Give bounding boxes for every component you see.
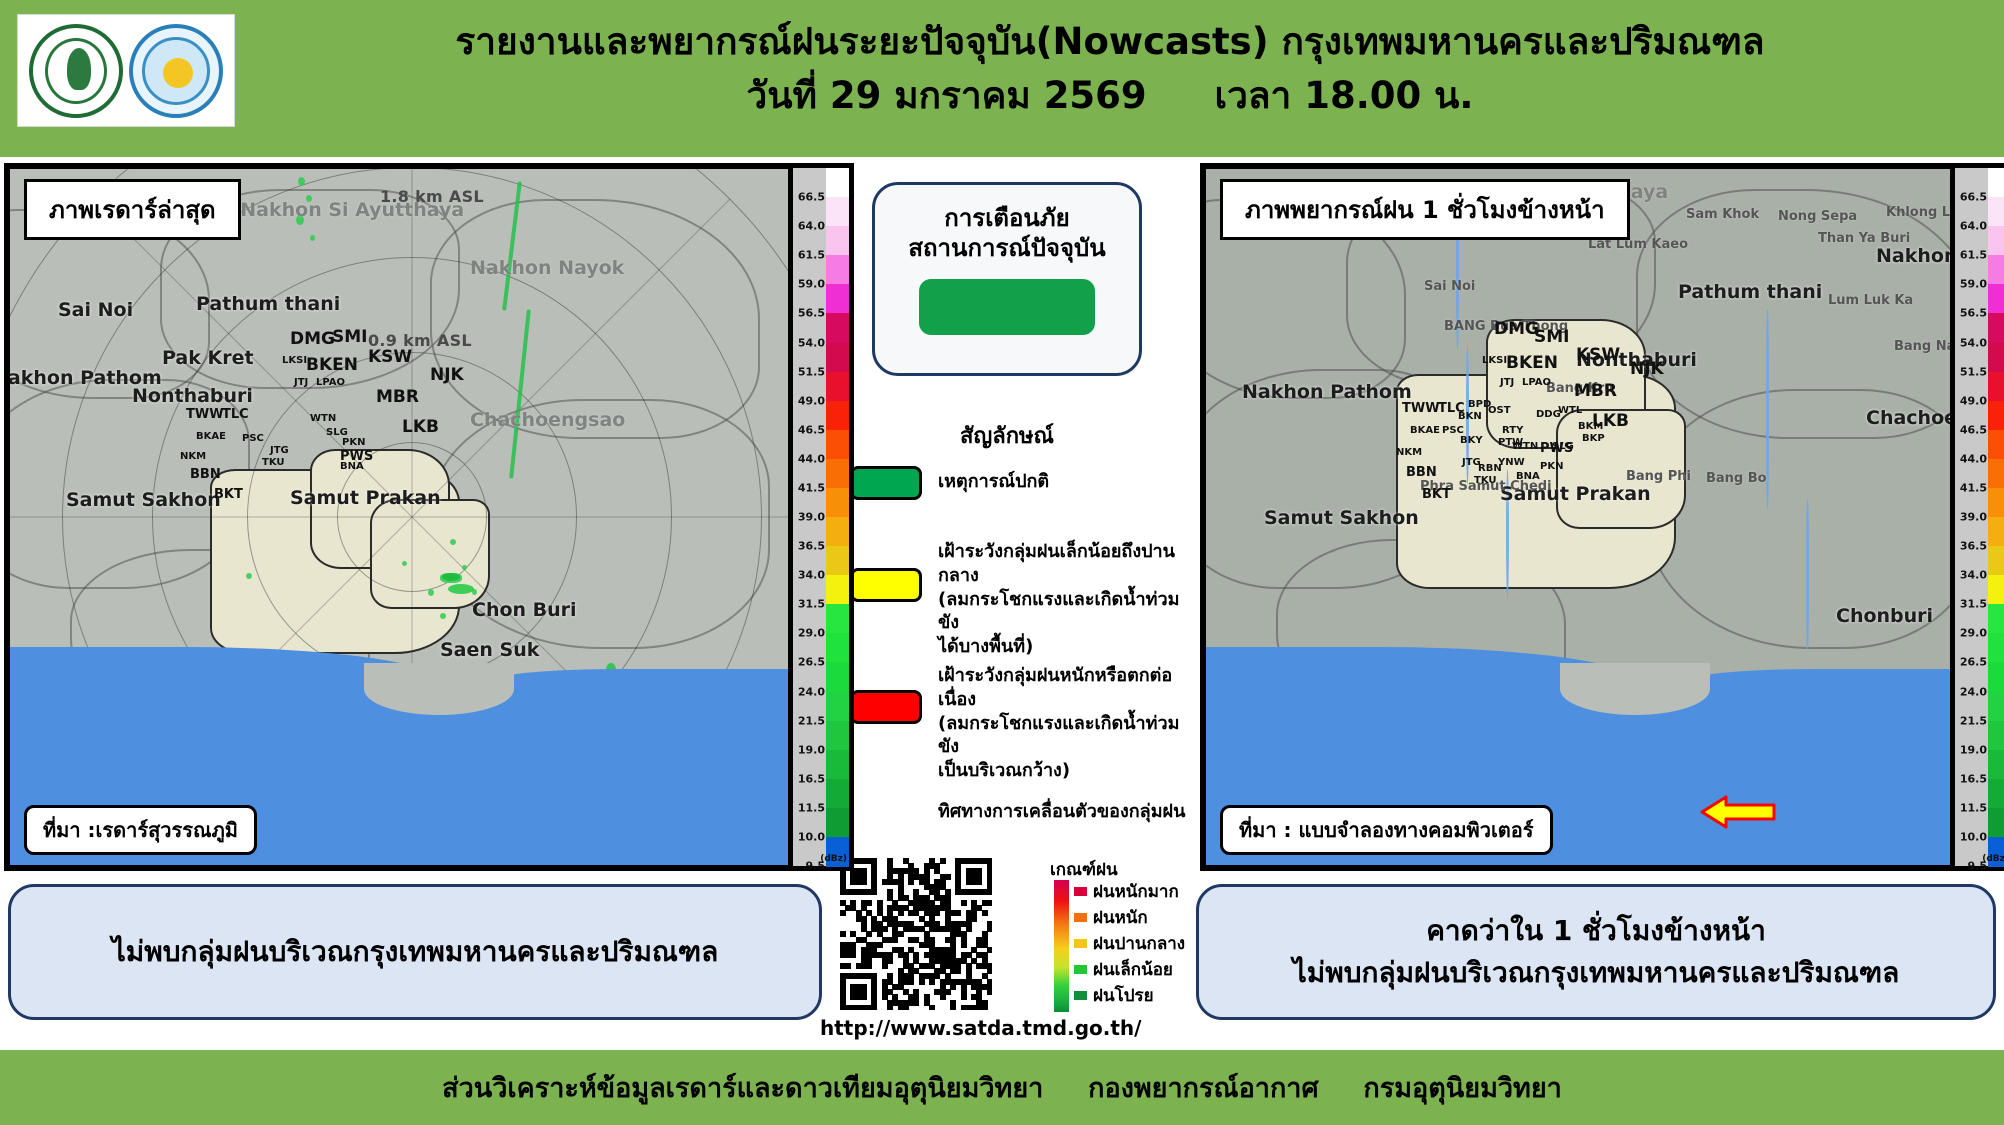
title-datetime: วันที่ 29 มกราคม 2569 เวลา 18.00 น. bbox=[250, 72, 1970, 120]
satda-tmd-qr-code[interactable] bbox=[840, 858, 992, 1010]
district-code: LPAO bbox=[1522, 377, 1551, 388]
place-label: Nakhon Pathom bbox=[1242, 381, 1412, 403]
dbz-swatch bbox=[1988, 372, 2004, 402]
dbz-swatch bbox=[826, 313, 849, 343]
dbz-swatch bbox=[1988, 313, 2004, 343]
dbz-tick-label: 16.5 bbox=[1960, 772, 1987, 785]
place-label: Pathum thani bbox=[1678, 281, 1822, 303]
radar-echo bbox=[310, 235, 315, 241]
rain-scale-item: ฝนโปรย bbox=[1074, 982, 1154, 1009]
district-code: PKN bbox=[1540, 461, 1563, 472]
district-code: BKT bbox=[214, 487, 243, 502]
legend-caution-line-2: (ลมกระโชกแรงและเกิดน้ำท่วมขัง bbox=[938, 588, 1190, 636]
place-label: Pathum thani bbox=[196, 293, 340, 315]
dbz-tick-label: 24.0 bbox=[798, 685, 825, 698]
dbz-tick-label: 64.0 bbox=[798, 220, 825, 233]
right-map-source: ที่มา : แบบจำลองทางคอมพิวเตอร์ bbox=[1220, 805, 1553, 855]
dbz-swatch bbox=[1988, 575, 2004, 605]
dbz-tick-label: 44.0 bbox=[798, 452, 825, 465]
dbz-tick-label: 51.5 bbox=[798, 365, 825, 378]
dbz-tick-label: 34.0 bbox=[798, 569, 825, 582]
dbz-tick-label: 36.5 bbox=[1960, 540, 1987, 553]
dbz-swatch bbox=[826, 779, 849, 809]
legend-swatch-yellow bbox=[850, 568, 922, 602]
dbz-swatch bbox=[826, 197, 849, 227]
district-code: SMI bbox=[332, 327, 368, 347]
radar-echo bbox=[428, 589, 434, 596]
radar-echo bbox=[462, 565, 467, 570]
rain-scale-swatch bbox=[1074, 965, 1087, 974]
coastline bbox=[1560, 663, 1710, 715]
legend-item-direction: ทิศทางการเคลื่อนตัวของกลุ่มฝน bbox=[850, 792, 1190, 838]
dbz-tick-label: 64.0 bbox=[1960, 220, 1987, 233]
place-label: Samut Prakan bbox=[290, 487, 441, 509]
dbz-tick-label: 26.5 bbox=[798, 656, 825, 669]
dbz-tick-label: 39.0 bbox=[1960, 511, 1987, 524]
district-code: TWW bbox=[186, 407, 224, 422]
dbz-tick-label: 24.0 bbox=[1960, 685, 1987, 698]
river bbox=[1806, 499, 1809, 649]
dbz-swatch bbox=[1988, 284, 2004, 314]
report-date: วันที่ 29 มกราคม 2569 bbox=[747, 74, 1147, 117]
dbz-tick-label: 66.5 bbox=[798, 191, 825, 204]
dbz-tick-label: 29.0 bbox=[1960, 627, 1987, 640]
dbz-swatch bbox=[1988, 343, 2004, 373]
place-label: Nong Sepa bbox=[1778, 209, 1857, 224]
district-code: LKB bbox=[402, 417, 439, 437]
nowcast-report-page: รายงานและพยากรณ์ฝนระยะปัจจุบัน(Nowcasts)… bbox=[0, 0, 2004, 1125]
legend-label-normal: เหตุการณ์ปกติ bbox=[938, 470, 1049, 494]
dbz-swatch bbox=[1988, 401, 2004, 431]
left-map-source: ที่มา :เรดาร์สุวรรณภูมิ bbox=[24, 805, 257, 855]
place-label: Bang Bo bbox=[1706, 471, 1767, 486]
warning-status-badge bbox=[919, 279, 1095, 335]
legend-severe-line-1: เฝ้าระวังกลุ่มฝนหนักหรือตกต่อเนื่อง bbox=[938, 664, 1190, 712]
district-code: BKM bbox=[1578, 421, 1603, 432]
dbz-tick-label: 11.5 bbox=[1960, 801, 1987, 814]
rain-scale-item: ฝนเล็กน้อย bbox=[1074, 956, 1173, 983]
dbz-tick-label: 49.0 bbox=[1960, 394, 1987, 407]
legend-item-caution: เฝ้าระวังกลุ่มฝนเล็กน้อยถึงปานกลาง (ลมกร… bbox=[850, 540, 1190, 632]
dbz-tick-label: 46.5 bbox=[798, 423, 825, 436]
dbz-tick-label: 21.5 bbox=[1960, 714, 1987, 727]
district-code: BKEN bbox=[1506, 353, 1558, 373]
left-summary-box: ไม่พบกลุ่มฝนบริเวณกรุงเทพมหานครและปริมณฑ… bbox=[8, 884, 822, 1020]
dbz-swatch bbox=[1988, 255, 2004, 285]
district-code: PTW bbox=[1498, 437, 1523, 448]
district-code: WTN bbox=[310, 413, 336, 424]
district-code: NJK bbox=[430, 365, 464, 385]
rain-scale-label: ฝนปานกลาง bbox=[1093, 930, 1185, 957]
district-code: BBN bbox=[190, 467, 221, 482]
dbz-tick-label: 21.5 bbox=[798, 714, 825, 727]
radar-echo-gulf bbox=[448, 584, 474, 594]
place-label: Than Ya Buri bbox=[1818, 231, 1910, 246]
rain-scale-swatch bbox=[1074, 939, 1087, 948]
right-summary-line1: คาดว่าใน 1 ชั่วโมงข้างหน้า bbox=[1426, 910, 1766, 952]
coastline bbox=[364, 663, 514, 715]
district-code: KSW bbox=[368, 347, 412, 367]
dbz-swatch bbox=[826, 168, 849, 198]
report-time: เวลา 18.00 น. bbox=[1214, 74, 1473, 117]
dbz-tick-label: 39.0 bbox=[798, 511, 825, 524]
district-code: BKT bbox=[1422, 487, 1451, 502]
dbz-tick-labels: 66.564.061.559.056.554.051.549.046.544.0… bbox=[793, 168, 826, 866]
qr-code-image bbox=[840, 858, 992, 1010]
left-summary-text: ไม่พบกลุ่มฝนบริเวณกรุงเทพมหานครและปริมณฑ… bbox=[112, 931, 719, 973]
dbz-swatch bbox=[1988, 808, 2004, 838]
warning-title-line2: สถานการณ์ปัจจุบัน bbox=[908, 233, 1105, 263]
dbz-tick-label: 44.0 bbox=[1960, 452, 1987, 465]
place-label: Sam Khok bbox=[1686, 207, 1759, 222]
district-code: LPAO bbox=[316, 377, 345, 388]
dbz-color-swatches bbox=[826, 168, 849, 866]
dbz-swatch bbox=[1988, 721, 2004, 751]
dbz-swatch bbox=[1988, 168, 2004, 198]
dbz-tick-label: 41.5 bbox=[1960, 481, 1987, 494]
right-summary-box: คาดว่าใน 1 ชั่วโมงข้างหน้า ไม่พบกลุ่มฝนบ… bbox=[1196, 884, 1996, 1020]
dbz-tick-label: 10.0 bbox=[1960, 830, 1987, 843]
dbz-swatch bbox=[826, 604, 849, 634]
dbz-swatch bbox=[1988, 488, 2004, 518]
place-label: Sai Noi bbox=[58, 299, 133, 321]
dbz-swatch bbox=[1988, 750, 2004, 780]
dbz-tick-label: 56.5 bbox=[1960, 307, 1987, 320]
dbz-swatch bbox=[826, 750, 849, 780]
current-warning-card: การเตือนภัย สถานการณ์ปัจจุบัน bbox=[872, 182, 1142, 376]
district-code: NKM bbox=[1396, 447, 1422, 458]
place-label: Nakhon Pathom bbox=[4, 367, 162, 389]
dbz-tick-label: 51.5 bbox=[1960, 365, 1987, 378]
rain-scale-label: ฝนหนัก bbox=[1093, 904, 1148, 931]
radar-echo bbox=[298, 177, 305, 186]
page-title: รายงานและพยากรณ์ฝนระยะปัจจุบัน(Nowcasts)… bbox=[250, 18, 1970, 120]
dbz-tick-label: 56.5 bbox=[798, 307, 825, 320]
dbz-colorbar-left: 66.564.061.559.056.554.051.549.046.544.0… bbox=[788, 163, 854, 871]
legend-caution-line-3: ได้บางพื้นที่) bbox=[938, 635, 1190, 659]
radar-echo bbox=[440, 613, 446, 619]
district-code: MBR bbox=[376, 387, 419, 407]
dbz-swatch bbox=[826, 343, 849, 373]
dbz-swatch bbox=[1988, 546, 2004, 576]
dbz-swatch bbox=[826, 662, 849, 692]
dbz-tick-label: 46.5 bbox=[1960, 423, 1987, 436]
dbz-tick-label: 59.0 bbox=[798, 278, 825, 291]
dbz-swatch bbox=[1988, 226, 2004, 256]
dbz-swatch bbox=[826, 459, 849, 489]
dbz-tick-label: 59.0 bbox=[1960, 278, 1987, 291]
rain-scale-item: ฝนปานกลาง bbox=[1074, 930, 1185, 957]
dbz-tick-label: 54.0 bbox=[1960, 336, 1987, 349]
radar-map-latest[interactable]: 1.8 km ASL 0.9 km ASL Suphan Buri Phra N… bbox=[4, 163, 820, 871]
dbz-swatch bbox=[826, 633, 849, 663]
district-code: NKM bbox=[180, 451, 206, 462]
footer-part-2: กองพยากรณ์อากาศ bbox=[1088, 1073, 1318, 1104]
rain-scale-label: ฝนโปรย bbox=[1093, 982, 1154, 1009]
forecast-map-1hour[interactable]: Suphan Buri Phra Nakhon Si Ayutthaya Non… bbox=[1200, 163, 2004, 871]
rain-scale-swatch bbox=[1074, 887, 1087, 896]
district-code: BKEN bbox=[306, 355, 358, 375]
dbz-unit-label: (dBz) bbox=[1982, 854, 2004, 864]
dbz-swatch bbox=[826, 808, 849, 838]
rain-scale-item: ฝนหนักมาก bbox=[1074, 878, 1179, 905]
dbz-tick-label: 19.0 bbox=[1960, 743, 1987, 756]
district-code: LKSI bbox=[1482, 355, 1507, 366]
rain-intensity-gradient bbox=[1054, 880, 1069, 1012]
rain-scale-swatch bbox=[1074, 913, 1087, 922]
place-label: Samut Sakhon bbox=[1264, 507, 1419, 529]
footer-credits: ส่วนวิเคราะห์ข้อมูลเรดาร์และดาวเทียมอุตุ… bbox=[442, 1066, 1562, 1109]
place-label: Chonburi bbox=[1836, 605, 1933, 627]
dbz-tick-label: 61.5 bbox=[1960, 249, 1987, 262]
district-code: SMI bbox=[1534, 327, 1570, 347]
dbz-swatch bbox=[826, 401, 849, 431]
dbz-tick-label: 34.0 bbox=[1960, 569, 1987, 582]
dbz-tick-label: 66.5 bbox=[1960, 191, 1987, 204]
district-code: JTJ bbox=[294, 377, 308, 388]
dbz-swatch bbox=[1988, 633, 2004, 663]
satda-url-text[interactable]: http://www.satda.tmd.go.th/ bbox=[820, 1016, 1140, 1040]
dbz-tick-label: 31.5 bbox=[1960, 598, 1987, 611]
district-code: TKU bbox=[1474, 475, 1497, 486]
rain-scale-label: ฝนหนักมาก bbox=[1093, 878, 1179, 905]
legend-swatch-green bbox=[850, 466, 922, 500]
legend-severe-line-3: เป็นบริเวณกว้าง) bbox=[938, 759, 1190, 783]
place-label: Nakhon Nayok bbox=[470, 257, 624, 279]
dbz-swatch bbox=[826, 721, 849, 751]
dbz-tick-label: 36.5 bbox=[798, 540, 825, 553]
dbz-swatch bbox=[826, 575, 849, 605]
district-code: RTY bbox=[1502, 425, 1523, 436]
right-summary-line2: ไม่พบกลุ่มฝนบริเวณกรุงเทพมหานครและปริมณฑ… bbox=[1293, 952, 1900, 994]
place-label: Samut Sakhon bbox=[66, 489, 221, 511]
district-code: DMG bbox=[290, 329, 335, 349]
district-code: BNA bbox=[1516, 471, 1540, 482]
district-code: JTJ bbox=[1500, 377, 1514, 388]
dbz-swatch bbox=[1988, 459, 2004, 489]
district-code: BBN bbox=[1406, 465, 1437, 480]
dbz-swatch bbox=[826, 284, 849, 314]
district-code: BKY bbox=[1460, 435, 1483, 446]
dbz-tick-label: 29.0 bbox=[798, 627, 825, 640]
dbz-swatch bbox=[1988, 604, 2004, 634]
district-code: KSW bbox=[1576, 345, 1620, 365]
district-code: JTG bbox=[270, 445, 289, 456]
legend-caution-line-1: เฝ้าระวังกลุ่มฝนเล็กน้อยถึงปานกลาง bbox=[938, 540, 1190, 588]
legend-label-caution: เฝ้าระวังกลุ่มฝนเล็กน้อยถึงปานกลาง (ลมกร… bbox=[938, 540, 1190, 659]
dbz-tick-label: 31.5 bbox=[798, 598, 825, 611]
district-code: TWW bbox=[1402, 401, 1440, 416]
dbz-swatch bbox=[826, 226, 849, 256]
footer-part-1: ส่วนวิเคราะห์ข้อมูลเรดาร์และดาวเทียมอุตุ… bbox=[442, 1073, 1043, 1104]
dbz-swatch bbox=[1988, 692, 2004, 722]
royal-rainmaking-seal-icon bbox=[29, 24, 123, 118]
district-code: SLG bbox=[1552, 441, 1574, 452]
legend-item-normal: เหตุการณ์ปกติ bbox=[850, 466, 1190, 506]
district-code: MBR bbox=[1574, 381, 1617, 401]
dbz-tick-label: 11.5 bbox=[798, 801, 825, 814]
legend-item-severe: เฝ้าระวังกลุ่มฝนหนักหรือตกต่อเนื่อง (ลมก… bbox=[850, 664, 1190, 756]
district-code: NJK bbox=[1630, 359, 1664, 379]
left-map-title: ภาพเรดาร์ล่าสุด bbox=[24, 179, 241, 240]
district-code: TLC bbox=[222, 407, 249, 422]
dbz-swatch bbox=[1988, 197, 2004, 227]
rain-scale-swatch bbox=[1074, 991, 1087, 1000]
dbz-tick-label: 61.5 bbox=[798, 249, 825, 262]
legend-swatch-red bbox=[850, 690, 922, 724]
place-label: Sai Noi bbox=[1424, 279, 1475, 294]
dbz-swatch bbox=[826, 692, 849, 722]
district-code: BKP bbox=[1582, 433, 1605, 444]
dbz-color-swatches bbox=[1988, 168, 2004, 866]
agency-logos bbox=[17, 14, 235, 127]
district-code: BKN bbox=[1458, 411, 1482, 422]
district-code: YNW bbox=[1498, 457, 1525, 468]
radar-echo bbox=[246, 573, 252, 579]
legend-label-severe: เฝ้าระวังกลุ่มฝนหนักหรือตกต่อเนื่อง (ลมก… bbox=[938, 664, 1190, 783]
page-header: รายงานและพยากรณ์ฝนระยะปัจจุบัน(Nowcasts)… bbox=[0, 0, 2004, 157]
dbz-swatch bbox=[826, 488, 849, 518]
legend-heading: สัญลักษณ์ bbox=[872, 418, 1142, 453]
place-label: Saen Suk bbox=[440, 639, 539, 661]
dbz-tick-label: 41.5 bbox=[798, 481, 825, 494]
district-code: WTL bbox=[1558, 405, 1582, 416]
dbz-swatch bbox=[826, 517, 849, 547]
dbz-swatch bbox=[1988, 779, 2004, 809]
district-code: BNA bbox=[340, 461, 364, 472]
district-code: OST bbox=[1488, 405, 1511, 416]
rain-scale-label: ฝนเล็กน้อย bbox=[1093, 956, 1173, 983]
dbz-tick-label: 16.5 bbox=[798, 772, 825, 785]
dbz-tick-label: 10.0 bbox=[798, 830, 825, 843]
dbz-tick-label: 26.5 bbox=[1960, 656, 1987, 669]
legend-label-direction: ทิศทางการเคลื่อนตัวของกลุ่มฝน bbox=[938, 800, 1185, 824]
district-code: BKAE bbox=[196, 431, 226, 442]
place-label: Pak Kret bbox=[162, 347, 254, 369]
district-code: BKAE bbox=[1410, 425, 1440, 436]
dbz-tick-label: 54.0 bbox=[798, 336, 825, 349]
dbz-swatch bbox=[826, 372, 849, 402]
right-map-title: ภาพพยากรณ์ฝน 1 ชั่วโมงข้างหน้า bbox=[1220, 179, 1630, 240]
place-label: Chachoengsao bbox=[470, 409, 625, 431]
place-label: Lum Luk Ka bbox=[1828, 293, 1913, 308]
radar-echo bbox=[450, 539, 456, 545]
movement-arrow-icon bbox=[1700, 792, 1776, 832]
title-main: รายงานและพยากรณ์ฝนระยะปัจจุบัน(Nowcasts)… bbox=[250, 18, 1970, 66]
warning-title-line1: การเตือนภัย bbox=[944, 203, 1069, 233]
district-code: DMG bbox=[1494, 319, 1539, 339]
dbz-swatch bbox=[1988, 517, 2004, 547]
tmd-seal-icon bbox=[129, 24, 223, 118]
footer-part-3: กรมอุตุนิยมวิทยา bbox=[1363, 1073, 1561, 1104]
dbz-tick-label: 49.0 bbox=[798, 394, 825, 407]
dbz-swatch bbox=[826, 255, 849, 285]
dbz-tick-labels: 66.564.061.559.056.554.051.549.046.544.0… bbox=[1955, 168, 1988, 866]
dbz-unit-label: (dBz) bbox=[820, 854, 847, 864]
legend-severe-line-2: (ลมกระโชกแรงและเกิดน้ำท่วมขัง bbox=[938, 712, 1190, 760]
district-code: PSC bbox=[242, 433, 264, 444]
place-label: Bang Phi bbox=[1626, 469, 1691, 484]
dbz-colorbar-right: 66.564.061.559.056.554.051.549.046.544.0… bbox=[1950, 163, 2004, 871]
page-footer: ส่วนวิเคราะห์ข้อมูลเรดาร์และดาวเทียมอุตุ… bbox=[0, 1050, 2004, 1125]
dbz-swatch bbox=[1988, 662, 2004, 692]
dbz-swatch bbox=[826, 546, 849, 576]
dbz-swatch bbox=[1988, 430, 2004, 460]
rain-scale-item: ฝนหนัก bbox=[1074, 904, 1148, 931]
district-code: LKSI bbox=[282, 355, 307, 366]
district-code: PKN bbox=[342, 437, 365, 448]
dbz-tick-label: 19.0 bbox=[798, 743, 825, 756]
radar-echo bbox=[442, 573, 460, 581]
radar-echo bbox=[402, 561, 407, 566]
district-code: TKU bbox=[262, 457, 285, 468]
place-label: Chon Buri bbox=[472, 599, 577, 621]
dbz-swatch bbox=[826, 430, 849, 460]
